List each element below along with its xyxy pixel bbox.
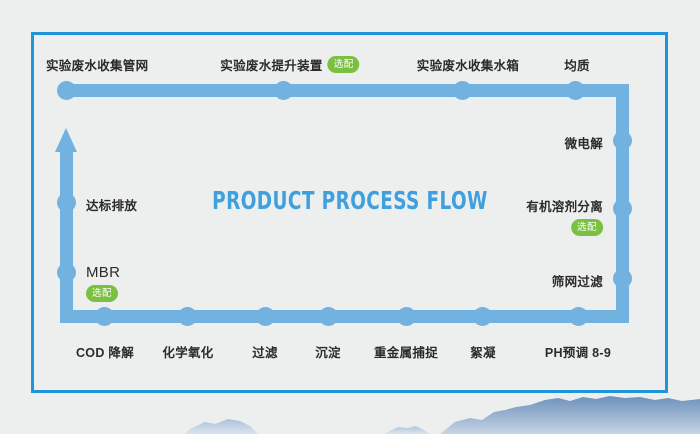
node-bottom-4[interactable] [319,307,338,326]
step-label-right-3: 筛网过滤 [552,271,603,290]
step-label-bottom-6: 化学氧化 [162,342,213,361]
step-label-bottom-5: 过滤 [252,342,278,361]
node-bottom-5[interactable] [256,307,275,326]
node-top-2[interactable] [274,81,293,100]
node-right-1[interactable] [613,131,632,150]
optional-badge-left-1: 选配 [86,285,118,302]
step-label-bottom-7: COD 降解 [76,342,134,361]
step-label-top-4: 均质 [564,55,590,74]
node-top-4[interactable] [566,81,585,100]
step-label-bottom-1: PH预调 8-9 [545,342,611,361]
node-bottom-7[interactable] [95,307,114,326]
step-label-bottom-2: 絮凝 [470,342,496,361]
step-label-left-1: MBR 选配 [86,264,120,302]
pipe-segment-bottom [66,310,629,323]
node-bottom-2[interactable] [473,307,492,326]
step-label-bottom-4: 沉淀 [315,342,341,361]
node-top-3[interactable] [453,81,472,100]
process-flow-diagram: 实验废水收集管网 实验废水提升装置选配 实验废水收集水箱 均质 微电解 有机溶剂… [0,0,700,434]
step-label-left-2: 达标排放 [86,195,137,214]
node-bottom-1[interactable] [569,307,588,326]
optional-badge-right-2: 选配 [571,219,603,236]
node-left-1[interactable] [57,263,76,282]
pipe-segment-left [60,150,73,323]
flow-arrow-icon [55,128,77,152]
node-bottom-6[interactable] [178,307,197,326]
diagram-title: PRODUCT PROCESS FLOW [182,186,518,215]
node-top-1[interactable] [57,81,76,100]
node-bottom-3[interactable] [397,307,416,326]
step-label-top-2: 实验废水提升装置选配 [220,55,359,74]
step-label-top-1: 实验废水收集管网 [46,55,148,74]
step-label-right-1: 微电解 [565,133,603,152]
step-label-top-3: 实验废水收集水箱 [417,55,519,74]
node-right-2[interactable] [613,199,632,218]
node-right-3[interactable] [613,269,632,288]
pipe-segment-top [66,84,623,97]
step-label-right-2: 有机溶剂分离 选配 [526,196,603,236]
optional-badge-top-2: 选配 [328,56,360,73]
step-label-bottom-3: 重金属捕捉 [374,342,438,361]
node-left-2[interactable] [57,193,76,212]
